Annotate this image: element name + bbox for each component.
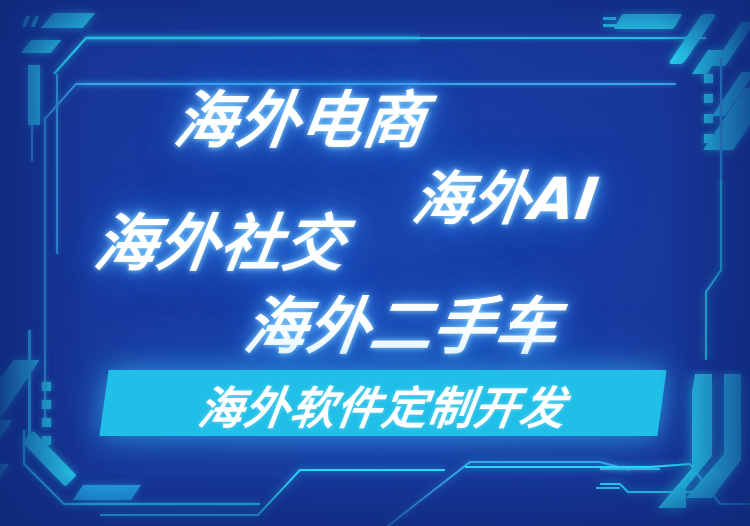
corner-diagonal-bar	[22, 431, 77, 487]
dot-marker	[704, 430, 711, 437]
frame-line-left-outer	[56, 74, 58, 254]
tick-mark-icon	[603, 17, 616, 20]
angled-bar-decor	[614, 14, 683, 29]
bottom-left-trace	[0, 430, 260, 526]
frame-line-left-inner	[44, 120, 46, 420]
dot-marker	[42, 418, 51, 427]
diagonal-stripe	[703, 88, 750, 150]
dot-marker	[42, 382, 51, 391]
diagonal-stripe	[0, 420, 12, 460]
right-edge-trace	[660, 180, 750, 360]
diagonal-stripe	[0, 376, 12, 416]
diagonal-stripe	[712, 72, 750, 116]
frame-line-left-lower	[28, 330, 31, 440]
dot-marker	[704, 74, 713, 83]
angled-bar-decor	[21, 40, 62, 53]
headline-usedcar: 海外二手车	[240, 276, 566, 366]
vertical-bar-decor	[28, 65, 40, 125]
dot-marker	[704, 94, 713, 103]
slash-mark-icon	[22, 16, 30, 27]
dot-marker	[704, 134, 713, 143]
corner-diagonal-bar	[668, 14, 717, 64]
promo-banner: 海外电商 海外AI 海外社交 海外二手车 海外软件定制开发	[0, 0, 750, 526]
diagonal-stripe	[0, 360, 40, 418]
dot-marker	[42, 436, 51, 445]
angled-bar-decor	[73, 485, 141, 500]
corner-diagonal-bar	[692, 50, 723, 74]
vertical-thin-trace	[31, 125, 33, 161]
frame-line-top-outer	[86, 37, 706, 39]
slash-mark-icon	[31, 16, 39, 27]
diagonal-stripe	[0, 464, 9, 494]
frame-line-right-inner	[720, 58, 722, 188]
dot-marker	[42, 400, 51, 409]
angled-bar-decor	[41, 13, 96, 28]
headline-ai: 海外AI	[408, 152, 605, 236]
headline-social: 海外社交	[90, 193, 353, 283]
bottom-circuit-traces	[0, 440, 750, 526]
dot-marker	[704, 114, 713, 123]
diagonal-stripe	[712, 22, 750, 66]
headline-ecommerce: 海外电商	[170, 70, 433, 160]
frame-line-right-lower	[600, 468, 660, 470]
tick-mark-icon	[603, 24, 616, 27]
cta-banner-label: 海外软件定制开发	[124, 378, 641, 430]
